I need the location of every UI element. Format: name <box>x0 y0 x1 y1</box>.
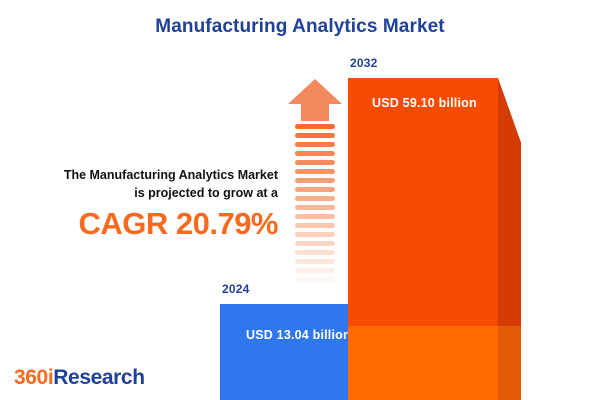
bar-2032-front-face-lower <box>348 326 498 400</box>
statement-text: The Manufacturing Analytics Market is pr… <box>6 166 278 202</box>
bar-2032-side-face-upper <box>498 78 521 326</box>
page-title: Manufacturing Analytics Market <box>0 16 600 38</box>
market-infographic: Manufacturing Analytics Market The Manuf… <box>0 0 600 400</box>
logo-text-research: Research <box>53 366 144 389</box>
arrow-stripe <box>295 205 335 210</box>
logo-text-360: 360 <box>14 366 48 389</box>
arrow-stripe <box>295 214 335 219</box>
arrow-stripe <box>295 124 335 129</box>
arrow-stripe <box>295 268 335 273</box>
brand-logo[interactable]: 360iResearch <box>14 366 145 390</box>
arrow-stripe <box>295 142 335 147</box>
arrow-stripe <box>295 241 335 246</box>
arrow-stripe <box>295 133 335 138</box>
bar-2032-front-face-upper <box>348 78 498 326</box>
cagr-statement-block: The Manufacturing Analytics Market is pr… <box>6 166 278 241</box>
statement-line-1: The Manufacturing Analytics Market <box>6 166 278 184</box>
growth-arrow-graphic <box>287 78 343 290</box>
arrow-stripe <box>295 178 335 183</box>
arrow-stripe <box>295 232 335 237</box>
arrow-stripe <box>295 223 335 228</box>
cagr-value: CAGR 20.79% <box>6 208 278 241</box>
arrow-stripe <box>295 160 335 165</box>
arrow-stripe <box>295 169 335 174</box>
arrow-stripe <box>295 151 335 156</box>
bar-2024-year-label: 2024 <box>222 282 250 296</box>
bar-2032-value-label: USD 59.10 billion <box>372 96 477 110</box>
arrow-stripe <box>295 259 335 264</box>
arrow-up-icon <box>287 78 343 122</box>
arrow-stripe <box>295 196 335 201</box>
bar-2024-value-label: USD 13.04 billion <box>246 328 351 342</box>
arrow-stripe <box>295 250 335 255</box>
arrow-stripes <box>295 124 335 290</box>
bar-2032: 2032 USD 59.10 billion <box>348 56 528 400</box>
statement-line-2: is projected to grow at a <box>6 184 278 202</box>
bar-2032-year-label: 2032 <box>350 56 378 70</box>
arrow-stripe <box>295 187 335 192</box>
bar-2032-side-face-lower <box>498 326 521 400</box>
